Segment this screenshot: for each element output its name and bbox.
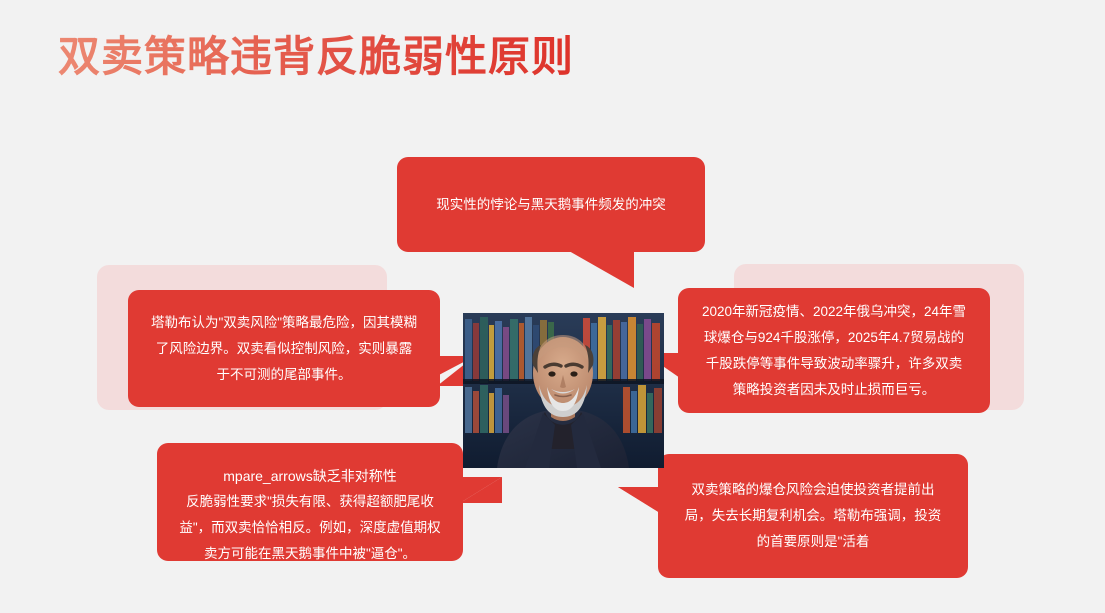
callout-left[interactable]: 塔勒布认为"双卖风险"策略最危险，因其模糊了风险边界。双卖看似控制风险，实则暴露…: [128, 290, 440, 407]
callout-bottom-left[interactable]: mpare_arrows缺乏非对称性反脆弱性要求"损失有限、获得超额肥尾收益"，…: [157, 443, 463, 561]
callout-top-text: 现实性的悖论与黑天鹅事件频发的冲突: [397, 192, 705, 218]
portrait-illustration: [463, 313, 664, 468]
callout-bottom-left-text: mpare_arrows缺乏非对称性反脆弱性要求"损失有限、获得超额肥尾收益"，…: [157, 437, 463, 567]
callout-bottom-left-body: 反脆弱性要求"损失有限、获得超额肥尾收益"，而双卖恰恰相反。例如，深度虚值期权卖…: [179, 494, 440, 561]
callout-bottom-left-lead: mpare_arrows缺乏非对称性: [179, 463, 441, 489]
callout-bottom-left-tail-upper: [460, 477, 502, 503]
portrait-image: [463, 313, 664, 468]
callout-left-text: 塔勒布认为"双卖风险"策略最危险，因其模糊了风险边界。双卖看似控制风险，实则暴露…: [128, 310, 440, 388]
callout-bottom-right-text: 双卖策略的爆仓风险会迫使投资者提前出局，失去长期复利机会。塔勒布强调，投资的首要…: [658, 477, 968, 555]
page-title: 双卖策略违背反脆弱性原则: [58, 33, 574, 81]
slide-canvas: 双卖策略违背反脆弱性原则 现实性的悖论与黑天鹅事件频发的冲突 塔勒布认为"双卖风…: [0, 0, 1105, 613]
callout-bottom-right[interactable]: 双卖策略的爆仓风险会迫使投资者提前出局，失去长期复利机会。塔勒布强调，投资的首要…: [658, 454, 968, 578]
callout-top[interactable]: 现实性的悖论与黑天鹅事件频发的冲突: [397, 157, 705, 252]
callout-top-tail: [569, 251, 634, 288]
callout-bottom-right-tail-upper: [618, 487, 660, 513]
callout-right-text: 2020年新冠疫情、2022年俄乌冲突，24年雪球爆仓与924千股涨停，2025…: [678, 299, 990, 403]
callout-right[interactable]: 2020年新冠疫情、2022年俄乌冲突，24年雪球爆仓与924千股涨停，2025…: [678, 288, 990, 413]
